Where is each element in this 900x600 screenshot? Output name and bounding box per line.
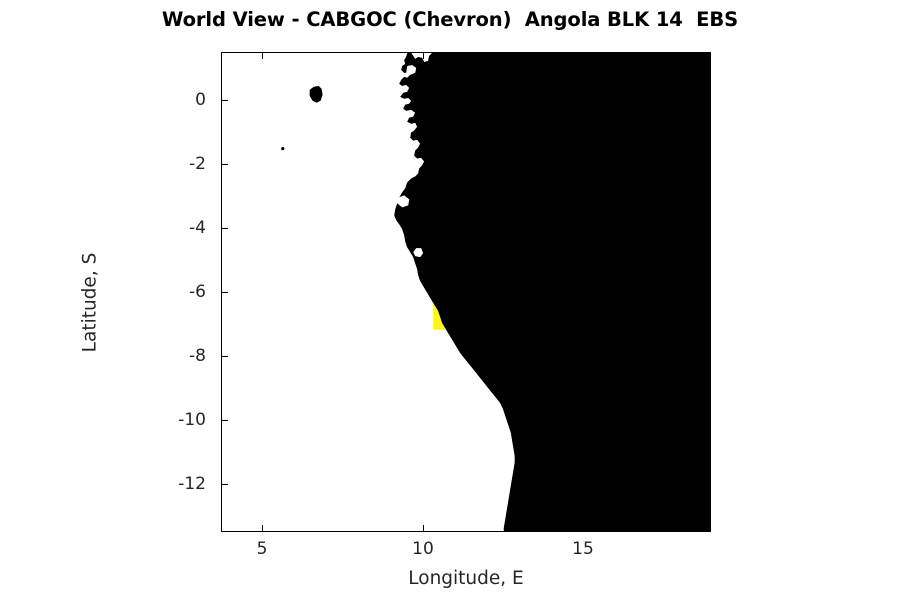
ytick-m4 <box>221 228 228 229</box>
xtick-15 <box>583 525 584 532</box>
xticklabel-15: 15 <box>572 539 594 559</box>
ytick-right-m12 <box>704 484 711 485</box>
ytick-m8 <box>221 356 228 357</box>
yticklabel-m12: -12 <box>0 474 206 494</box>
ytick-right-m4 <box>704 228 711 229</box>
ytick-m2 <box>221 164 228 165</box>
yticklabel-0: 0 <box>0 90 206 110</box>
xtick-top-15 <box>583 52 584 59</box>
xtick-5 <box>262 525 263 532</box>
y-axis-label: Latitude, S <box>80 123 101 483</box>
map-svg <box>222 53 710 531</box>
ytick-0 <box>221 100 228 101</box>
ytick-right-0 <box>704 100 711 101</box>
ytick-right-m2 <box>704 164 711 165</box>
yticklabel-m10: -10 <box>0 410 206 430</box>
ytick-m10 <box>221 420 228 421</box>
ytick-m12 <box>221 484 228 485</box>
xtick-top-10 <box>423 52 424 59</box>
ytick-m6 <box>221 292 228 293</box>
xticklabel-10: 10 <box>412 539 434 559</box>
figure-canvas: World View - CABGOC (Chevron) Angola BLK… <box>0 0 900 600</box>
page-title: World View - CABGOC (Chevron) Angola BLK… <box>0 8 900 31</box>
ytick-right-m6 <box>704 292 711 293</box>
yticklabel-m4: -4 <box>0 218 206 238</box>
yticklabel-m6: -6 <box>0 282 206 302</box>
map-plot-area[interactable] <box>221 52 711 532</box>
xtick-top-5 <box>262 52 263 59</box>
island-annobon <box>281 147 284 150</box>
xtick-10 <box>423 525 424 532</box>
xticklabel-5: 5 <box>257 539 268 559</box>
x-axis-label: Longitude, E <box>221 568 711 589</box>
yticklabel-m8: -8 <box>0 346 206 366</box>
yticklabel-m2: -2 <box>0 154 206 174</box>
ytick-right-m10 <box>704 420 711 421</box>
ytick-right-m8 <box>704 356 711 357</box>
